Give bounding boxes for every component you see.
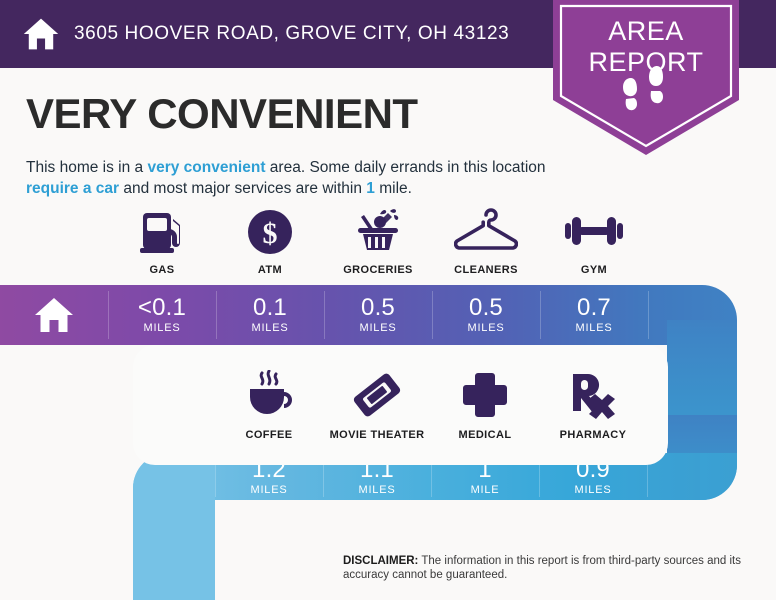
- desc-part-4: mile.: [375, 180, 412, 197]
- coffee-cup-icon: [242, 370, 296, 420]
- movie-ticket-icon: [349, 370, 405, 420]
- distance-segment-groceries: 0.5 MILES: [324, 285, 432, 345]
- amenity-icon-row-1: GAS $ ATM: [108, 205, 648, 276]
- distance-unit-groceries: MILES: [359, 322, 396, 335]
- distance-segment-gym: 0.7 MILES: [540, 285, 648, 345]
- amenity-cleaners: CLEANERS: [432, 205, 540, 276]
- amenity-label-atm: ATM: [258, 264, 282, 276]
- distance-unit-gas: MILES: [143, 322, 180, 335]
- amenity-gym: GYM: [540, 205, 648, 276]
- home-icon: [22, 16, 60, 52]
- distance-unit-gym: MILES: [575, 322, 612, 335]
- amenity-gas: GAS: [108, 205, 216, 276]
- distance-value-groceries: 0.5: [361, 295, 395, 320]
- amenity-label-medical: MEDICAL: [459, 429, 512, 441]
- hanger-icon: [454, 205, 518, 255]
- amenity-coffee: COFFEE: [215, 370, 323, 441]
- rx-icon: [567, 370, 619, 420]
- amenity-movie-theater: MOVIE THEATER: [323, 370, 431, 441]
- grocery-basket-icon: [350, 205, 406, 255]
- amenity-label-groceries: GROCERIES: [343, 264, 413, 276]
- amenity-label-movie-theater: MOVIE THEATER: [330, 429, 425, 441]
- amenity-groceries: GROCERIES: [324, 205, 432, 276]
- distance-value-gas: <0.1: [138, 295, 186, 320]
- amenity-icon-row-2: COFFEE MOVIE THEATER MEDICAL: [215, 370, 647, 441]
- amenity-atm: $ ATM: [216, 205, 324, 276]
- badge-shield-shape: [553, 0, 739, 155]
- amenity-medical: MEDICAL: [431, 370, 539, 441]
- distance-unit-cleaners: MILES: [467, 322, 504, 335]
- distance-value-atm: 0.1: [253, 295, 287, 320]
- property-address: 3605 HOOVER ROAD, GROVE CITY, OH 43123: [74, 23, 509, 45]
- distance-segment-cleaners: 0.5 MILES: [432, 285, 540, 345]
- distance-segment-atm: 0.1 MILES: [216, 285, 324, 345]
- dollar-coin-icon: $: [245, 205, 295, 255]
- medical-cross-icon: [460, 370, 510, 420]
- amenity-label-coffee: COFFEE: [245, 429, 292, 441]
- gas-pump-icon: [137, 205, 187, 255]
- svg-text:$: $: [263, 217, 278, 250]
- page-description: This home is in a very convenient area. …: [26, 157, 556, 199]
- amenity-pharmacy: PHARMACY: [539, 370, 647, 441]
- area-report-badge: AREA REPORT: [553, 0, 739, 155]
- amenity-label-gym: GYM: [581, 264, 607, 276]
- distance-unit-pharmacy: MILES: [574, 484, 611, 497]
- amenity-label-cleaners: CLEANERS: [454, 264, 518, 276]
- desc-part-1: This home is in a: [26, 159, 147, 176]
- desc-highlight-3: 1: [366, 180, 375, 197]
- desc-part-3: and most major services are within: [119, 180, 366, 197]
- desc-part-2: area. Some daily errands in this locatio…: [266, 159, 546, 176]
- area-report-infographic: <0.1 MILES 0.1 MILES 0.5 MILES 0.5 MILES: [0, 0, 776, 600]
- home-icon: [33, 296, 75, 334]
- disclaimer-label: DISCLAIMER:: [343, 555, 418, 567]
- distance-unit-coffee: MILES: [250, 484, 287, 497]
- distance-unit-movie-theater: MILES: [358, 484, 395, 497]
- dumbbell-icon: [562, 205, 626, 255]
- page-title: VERY CONVENIENT: [26, 90, 418, 138]
- desc-highlight-2: require a car: [26, 180, 119, 197]
- disclaimer: DISCLAIMER: The information in this repo…: [343, 554, 763, 582]
- desc-highlight-1: very convenient: [147, 159, 265, 176]
- amenity-label-gas: GAS: [149, 264, 174, 276]
- distance-segment-gas: <0.1 MILES: [108, 285, 216, 345]
- distance-value-cleaners: 0.5: [469, 295, 503, 320]
- distance-unit-medical: MILE: [471, 484, 500, 497]
- distance-value-gym: 0.7: [577, 295, 611, 320]
- distance-unit-atm: MILES: [251, 322, 288, 335]
- amenity-label-pharmacy: PHARMACY: [560, 429, 627, 441]
- home-marker-segment: [0, 285, 108, 345]
- header-content: 3605 HOOVER ROAD, GROVE CITY, OH 43123: [22, 0, 509, 68]
